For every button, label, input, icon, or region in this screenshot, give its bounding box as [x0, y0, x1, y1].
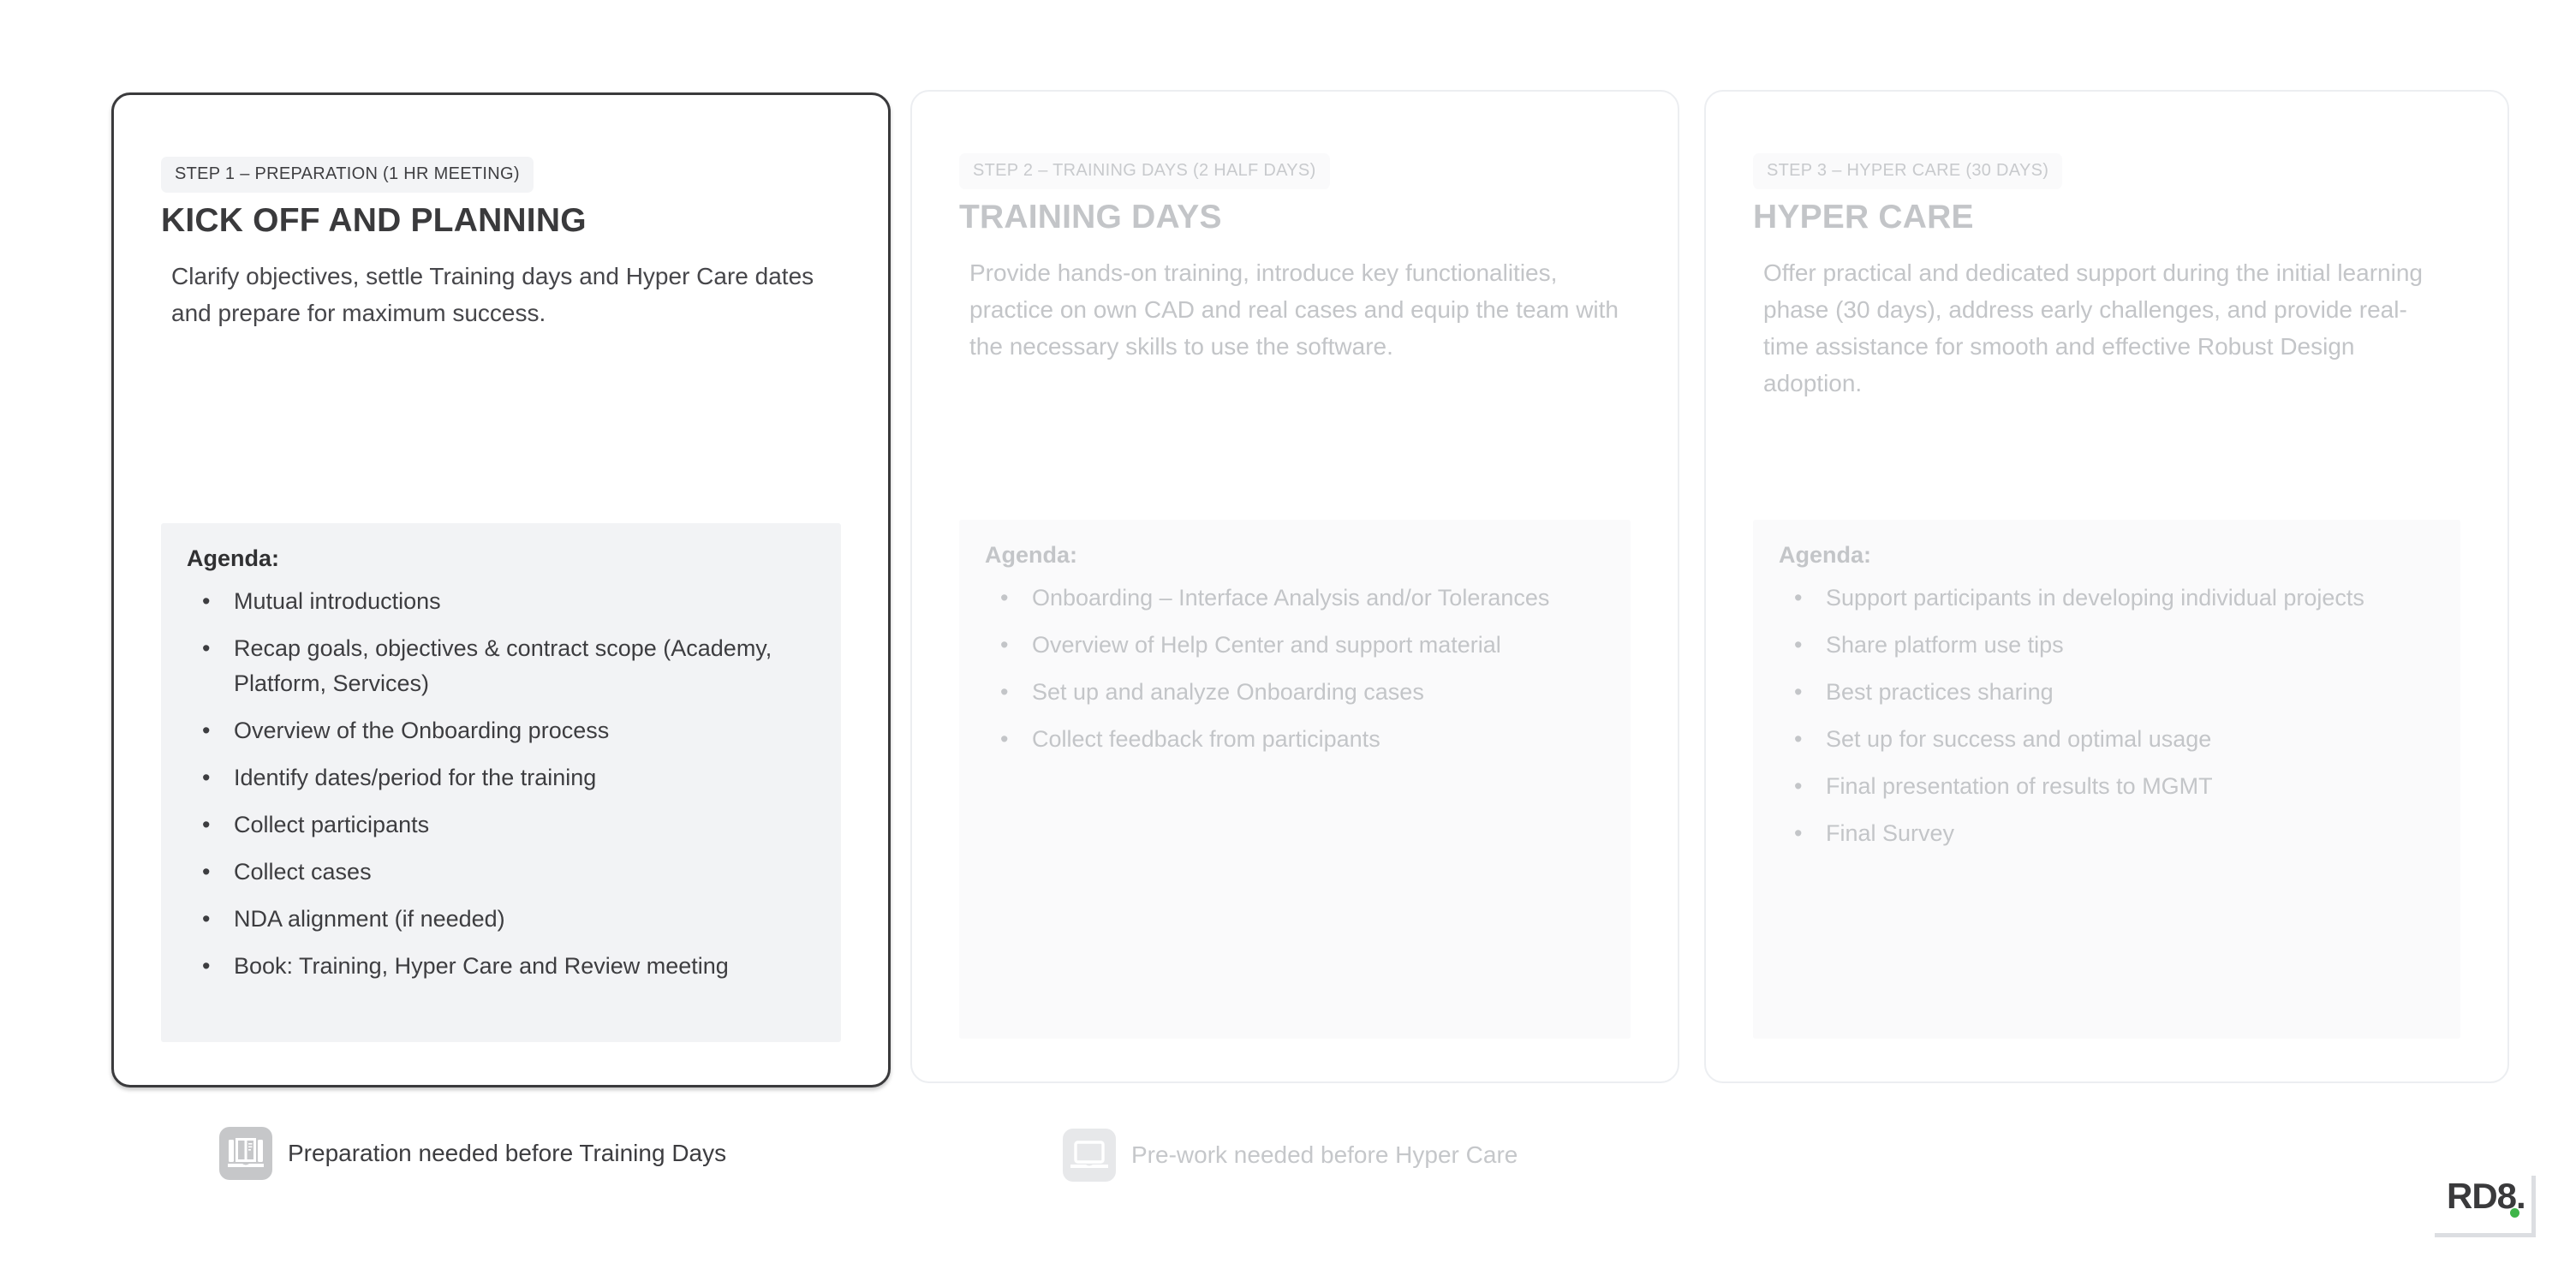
- bullet-icon: •: [202, 807, 210, 843]
- bullet-icon: •: [1794, 722, 1802, 757]
- bullet-icon: •: [202, 760, 210, 795]
- bullet-icon: •: [1000, 628, 1008, 663]
- agenda-list-2: •Onboarding – Interface Analysis and/or …: [985, 581, 1605, 757]
- logo-accent-dot: [2510, 1208, 2519, 1218]
- step-badge-3: STEP 3 – HYPER CARE (30 DAYS): [1753, 153, 2062, 189]
- step-description-3: Offer practical and dedicated support du…: [1763, 254, 2440, 402]
- agenda-item-label: Collect feedback from participants: [1032, 726, 1380, 752]
- agenda-item: •Best practices sharing: [1779, 675, 2435, 710]
- agenda-item-label: Collect participants: [234, 812, 429, 837]
- agenda-item-label: Mutual introductions: [234, 588, 441, 614]
- agenda-item-label: Share platform use tips: [1826, 632, 2064, 658]
- agenda-item-label: Support participants in developing indiv…: [1826, 585, 2364, 611]
- agenda-item: •Collect participants: [187, 807, 815, 843]
- bullet-icon: •: [1000, 675, 1008, 710]
- footnote-label: Pre-work needed before Hyper Care: [1131, 1141, 1518, 1169]
- agenda-item-label: Book: Training, Hyper Care and Review me…: [234, 953, 729, 979]
- agenda-list-1: •Mutual introductions •Recap goals, obje…: [187, 584, 815, 984]
- footnote-label: Preparation needed before Training Days: [288, 1140, 726, 1167]
- rd8-logo: RD8.: [2435, 1176, 2537, 1248]
- agenda-item: •Onboarding – Interface Analysis and/or …: [985, 581, 1605, 616]
- agenda-item-label: Identify dates/period for the training: [234, 765, 596, 790]
- bullet-icon: •: [202, 584, 210, 619]
- agenda-item: •Collect cases: [187, 855, 815, 890]
- bullet-icon: •: [1794, 581, 1802, 616]
- footnote-prework: Pre-work needed before Hyper Care: [1063, 1129, 1518, 1182]
- agenda-item: •Overview of the Onboarding process: [187, 713, 815, 748]
- step-badge-2: STEP 2 – TRAINING DAYS (2 HALF DAYS): [959, 153, 1330, 189]
- step-badge-1: STEP 1 – PREPARATION (1 HR MEETING): [161, 157, 534, 193]
- agenda-panel-1: Agenda: •Mutual introductions •Recap goa…: [161, 523, 841, 1042]
- bullet-icon: •: [1794, 675, 1802, 710]
- agenda-item-label: Collect cases: [234, 859, 372, 885]
- bullet-icon: •: [202, 902, 210, 937]
- agenda-panel-3: Agenda: •Support participants in develop…: [1753, 520, 2460, 1039]
- agenda-item: •Book: Training, Hyper Care and Review m…: [187, 949, 815, 984]
- agenda-item-label: Final presentation of results to MGMT: [1826, 773, 2213, 799]
- agenda-item: •Share platform use tips: [1779, 628, 2435, 663]
- agenda-item-label: Set up and analyze Onboarding cases: [1032, 679, 1424, 705]
- bullet-icon: •: [1000, 722, 1008, 757]
- step-card-3[interactable]: STEP 3 – HYPER CARE (30 DAYS) HYPER CARE…: [1704, 90, 2509, 1083]
- bullet-icon: •: [1794, 628, 1802, 663]
- agenda-item: •Final Survey: [1779, 816, 2435, 851]
- footnote-preparation: Preparation needed before Training Days: [219, 1127, 726, 1180]
- step-description-2: Provide hands-on training, introduce key…: [969, 254, 1620, 365]
- agenda-item-label: NDA alignment (if needed): [234, 906, 505, 932]
- step-card-1[interactable]: STEP 1 – PREPARATION (1 HR MEETING) KICK…: [111, 92, 891, 1087]
- agenda-item: •Set up and analyze Onboarding cases: [985, 675, 1605, 710]
- agenda-item-label: Overview of the Onboarding process: [234, 718, 609, 743]
- agenda-item-label: Final Survey: [1826, 820, 1954, 846]
- bullet-icon: •: [1794, 769, 1802, 804]
- agenda-item: •Collect feedback from participants: [985, 722, 1605, 757]
- bullet-icon: •: [202, 631, 210, 666]
- agenda-item: •Support participants in developing indi…: [1779, 581, 2435, 616]
- agenda-item-label: Recap goals, objectives & contract scope…: [234, 635, 772, 696]
- agenda-list-3: •Support participants in developing indi…: [1779, 581, 2435, 851]
- laptop-icon: [1063, 1129, 1116, 1182]
- agenda-item: •Set up for success and optimal usage: [1779, 722, 2435, 757]
- step-title-2: TRAINING DAYS: [959, 199, 1222, 236]
- bullet-icon: •: [202, 949, 210, 984]
- step-title-3: HYPER CARE: [1753, 199, 1974, 236]
- agenda-panel-2: Agenda: •Onboarding – Interface Analysis…: [959, 520, 1631, 1039]
- agenda-item: •Identify dates/period for the training: [187, 760, 815, 795]
- agenda-item: •Mutual introductions: [187, 584, 815, 619]
- step-card-2[interactable]: STEP 2 – TRAINING DAYS (2 HALF DAYS) TRA…: [910, 90, 1679, 1083]
- agenda-heading-1: Agenda:: [187, 545, 815, 572]
- agenda-item: •Recap goals, objectives & contract scop…: [187, 631, 815, 701]
- bullet-icon: •: [1794, 816, 1802, 851]
- bullet-icon: •: [202, 713, 210, 748]
- agenda-item-label: Set up for success and optimal usage: [1826, 726, 2211, 752]
- agenda-heading-3: Agenda:: [1779, 542, 2435, 569]
- agenda-item: •NDA alignment (if needed): [187, 902, 815, 937]
- bullet-icon: •: [1000, 581, 1008, 616]
- slide-canvas: STEP 1 – PREPARATION (1 HR MEETING) KICK…: [0, 0, 2576, 1275]
- step-description-1: Clarify objectives, settle Training days…: [171, 258, 822, 331]
- agenda-item-label: Best practices sharing: [1826, 679, 2054, 705]
- bullet-icon: •: [202, 855, 210, 890]
- agenda-item: •Final presentation of results to MGMT: [1779, 769, 2435, 804]
- step-title-1: KICK OFF AND PLANNING: [161, 202, 587, 240]
- agenda-item-label: Overview of Help Center and support mate…: [1032, 632, 1501, 658]
- agenda-item: •Overview of Help Center and support mat…: [985, 628, 1605, 663]
- agenda-item-label: Onboarding – Interface Analysis and/or T…: [1032, 585, 1549, 611]
- agenda-heading-2: Agenda:: [985, 542, 1605, 569]
- book-icon: [219, 1127, 272, 1180]
